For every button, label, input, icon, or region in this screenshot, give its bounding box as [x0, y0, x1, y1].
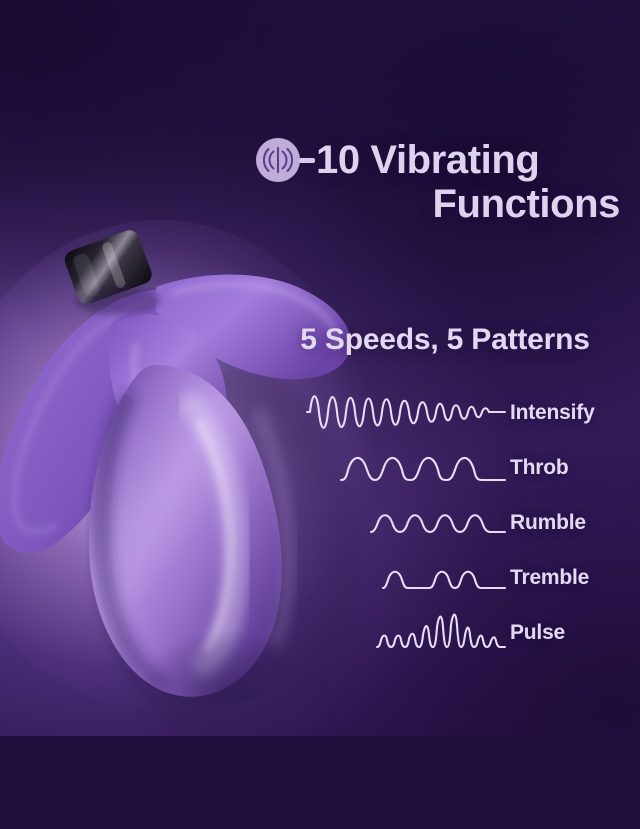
product-feature-poster: 10 Vibrating Functions 5 Speeds, 5 Patte…: [0, 0, 640, 829]
pattern-row: Rumble: [305, 495, 640, 550]
headline-line-1: 10 Vibrating: [316, 138, 539, 182]
pattern-label: Rumble: [510, 511, 586, 535]
pattern-label: Throb: [510, 456, 568, 480]
waveform-rumble-icon: [305, 495, 510, 550]
pattern-label: Tremble: [510, 566, 589, 590]
headline-row-secondary: Functions: [255, 182, 630, 226]
waveform-pulse-icon: [305, 605, 510, 660]
pattern-row: Tremble: [305, 550, 640, 605]
pattern-label: Pulse: [510, 621, 565, 645]
pattern-row: Pulse: [305, 605, 640, 660]
waveform-throb-icon: [305, 440, 510, 495]
waveform-tremble-icon: [305, 550, 510, 605]
background-bottom-band: [0, 736, 640, 829]
waveform-intensify-icon: [305, 385, 510, 440]
connector-dash: [299, 158, 315, 163]
pattern-label: Intensify: [510, 401, 595, 425]
headline-line-2: Functions: [433, 182, 621, 226]
vibration-waves-icon: [255, 137, 301, 183]
subheadline: 5 Speeds, 5 Patterns: [260, 321, 630, 359]
pattern-row: Intensify: [305, 385, 640, 440]
headline-row-primary: 10 Vibrating: [255, 136, 630, 184]
pattern-row: Throb: [305, 440, 640, 495]
vibration-pattern-list: Intensify Throb Rumble: [305, 385, 640, 660]
headline-block: 10 Vibrating Functions: [255, 136, 630, 226]
